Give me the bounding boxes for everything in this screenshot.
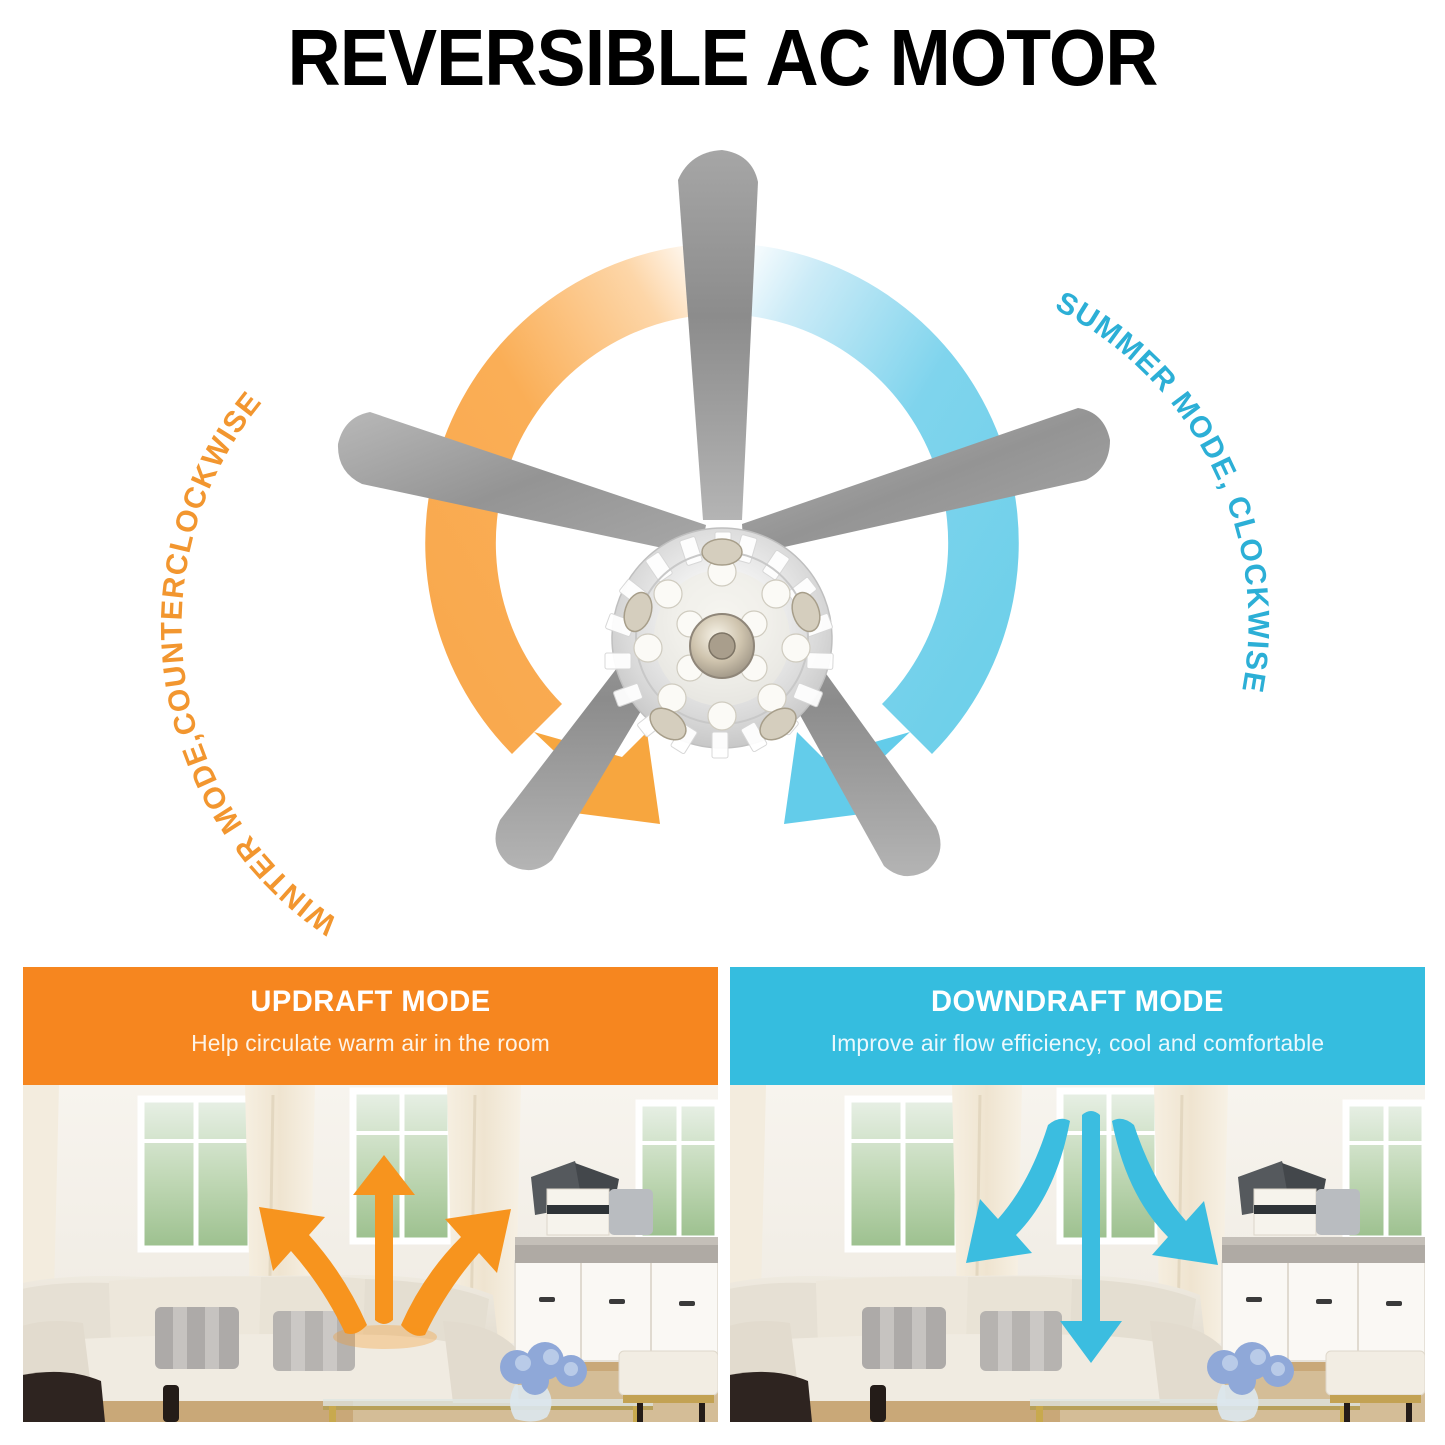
- updraft-subtitle: Help circulate warm air in the room: [26, 1026, 714, 1061]
- summer-mode-label: SUMMER MODE, CLOCKWISE: [1050, 285, 1274, 695]
- updraft-room-photo: [23, 1085, 718, 1422]
- fan-blade-1: [678, 150, 758, 520]
- downdraft-title: DOWNDRAFT MODE: [740, 985, 1414, 1020]
- updraft-title: UPDRAFT MODE: [33, 985, 707, 1020]
- downdraft-subtitle: Improve air flow efficiency, cool and co…: [733, 1026, 1421, 1061]
- downdraft-header: DOWNDRAFT MODE Improve air flow efficien…: [730, 967, 1425, 1085]
- reversible-motor-diagram: WINTER MODE,COUNTERCLOCKWISE SUMMER MODE…: [0, 120, 1445, 950]
- fan-light-kit-hub: [605, 528, 833, 758]
- page-title: REVERSIBLE AC MOTOR: [58, 18, 1387, 98]
- downdraft-room-photo: [730, 1085, 1425, 1422]
- updraft-mode-panel[interactable]: UPDRAFT MODE Help circulate warm air in …: [23, 967, 718, 1422]
- updraft-header: UPDRAFT MODE Help circulate warm air in …: [23, 967, 718, 1085]
- mode-comparison-panels: UPDRAFT MODE Help circulate warm air in …: [0, 960, 1445, 1430]
- downdraft-mode-panel[interactable]: DOWNDRAFT MODE Improve air flow efficien…: [730, 967, 1425, 1422]
- winter-mode-label: WINTER MODE,COUNTERCLOCKWISE: [156, 385, 343, 941]
